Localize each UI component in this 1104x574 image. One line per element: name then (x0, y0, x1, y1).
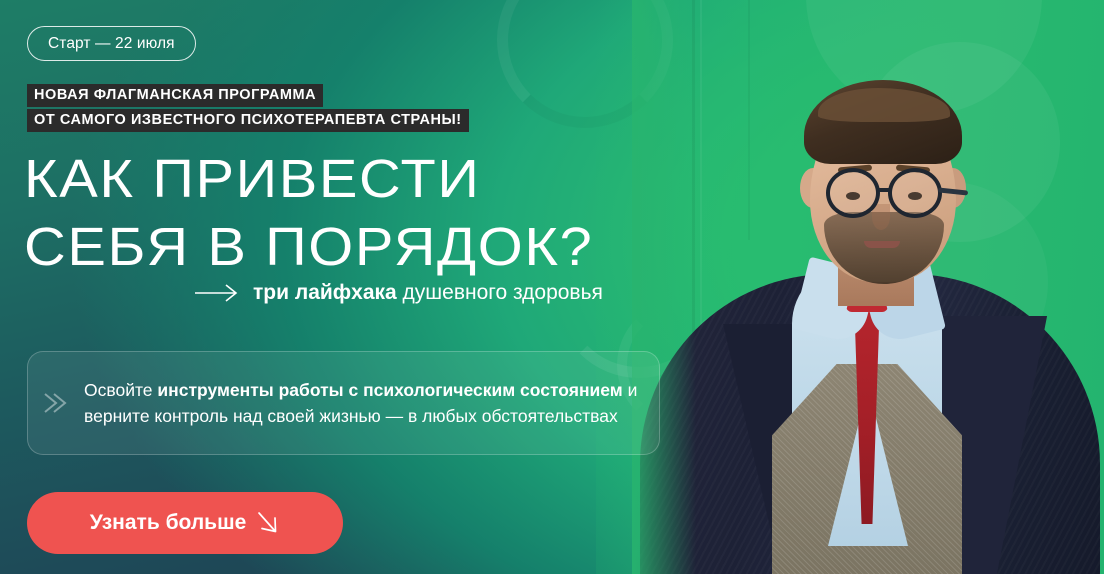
photo-glasses-right-lens (888, 168, 942, 218)
subtitle: три лайфхака душевного здоровья (195, 281, 603, 305)
arrow-down-right-icon (256, 510, 280, 536)
photo-mouth (864, 241, 900, 248)
learn-more-button[interactable]: Узнать больше (27, 492, 343, 554)
headline-line-2: СЕБЯ В ПОРЯДОК? (24, 213, 730, 281)
learn-more-label: Узнать больше (90, 511, 247, 535)
banner-content: Старт — 22 июля НОВАЯ ФЛАГМАНСКАЯ ПРОГРА… (0, 0, 700, 574)
subtitle-regular: душевного здоровья (397, 281, 603, 304)
description-text: Освойте инструменты работы с психологиче… (84, 377, 659, 429)
headline-line-1: КАК ПРИВЕСТИ (24, 145, 730, 213)
kicker-block: НОВАЯ ФЛАГМАНСКАЯ ПРОГРАММА ОТ САМОГО ИЗ… (27, 84, 469, 134)
description-bold: инструменты работы с психологическим сос… (157, 380, 622, 400)
photo-glasses-left-lens (826, 168, 880, 218)
subtitle-text: три лайфхака душевного здоровья (253, 281, 603, 305)
description-box: Освойте инструменты работы с психологиче… (27, 351, 660, 455)
photo-glasses-bridge (878, 188, 892, 192)
start-date-badge: Старт — 22 июля (27, 26, 196, 61)
page-title: КАК ПРИВЕСТИ СЕБЯ В ПОРЯДОК? (24, 145, 730, 281)
presenter-photo (632, 0, 1104, 574)
double-chevron-right-icon (28, 388, 84, 418)
kicker-line-1: НОВАЯ ФЛАГМАНСКАЯ ПРОГРАММА (27, 84, 323, 107)
kicker-line-2: ОТ САМОГО ИЗВЕСТНОГО ПСИХОТЕРАПЕВТА СТРА… (27, 109, 469, 132)
description-part-1: Освойте (84, 380, 157, 400)
subtitle-bold: три лайфхака (253, 281, 397, 304)
arrow-right-icon (195, 284, 239, 302)
promo-banner: Старт — 22 июля НОВАЯ ФЛАГМАНСКАЯ ПРОГРА… (0, 0, 1104, 574)
